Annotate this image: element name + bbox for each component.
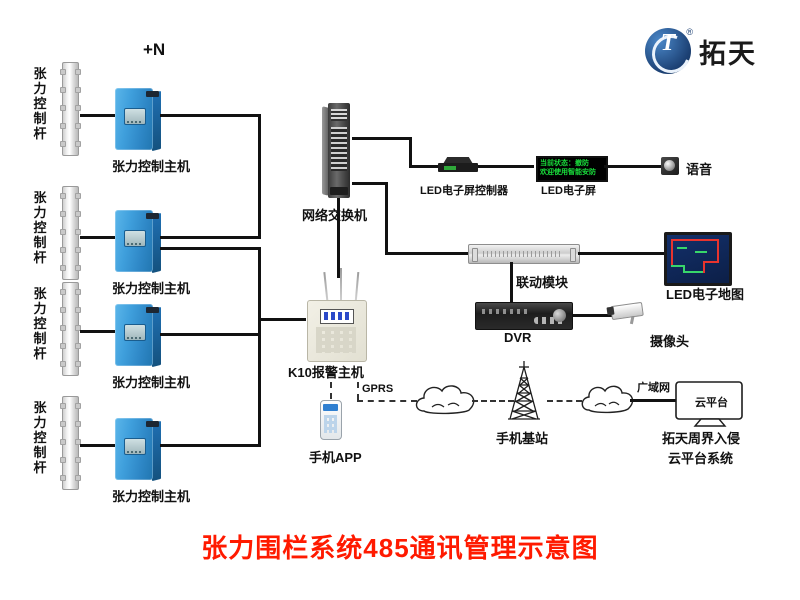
tension-host-3 xyxy=(115,304,161,366)
wire-dvr-camera xyxy=(572,314,612,317)
tension-host-label-2: 张力控制主机 xyxy=(112,278,190,297)
k10-alarm-host xyxy=(307,300,367,362)
wire-switch-linkage-c xyxy=(385,252,470,255)
bus-trunk-vertical xyxy=(258,318,261,362)
wire-switch-k10 xyxy=(337,198,340,278)
tension-pole-3 xyxy=(62,282,79,376)
wire-host4-bus xyxy=(160,444,261,447)
cloud-platform-screen-label: 云平台 xyxy=(695,394,728,410)
wire-pole3-host3 xyxy=(80,330,118,333)
gprs-label: GPRS xyxy=(362,383,393,395)
wire-host3-bus xyxy=(160,333,261,336)
tension-host-label-1: 张力控制主机 xyxy=(112,156,190,175)
camera-device xyxy=(607,302,647,326)
led-screen-device: 当前状态：撤防 欢迎使用智能安防 xyxy=(536,156,608,182)
wire-ledscreen-voice xyxy=(604,165,661,168)
wire-switch-linkage-a xyxy=(352,182,388,185)
diagram-canvas: T ® 拓天 +N 张力控制杆 张力控制主机 张力控制杆 张力控制主机 张力控制… xyxy=(0,0,800,600)
camera-label: 摄像头 xyxy=(650,331,689,350)
cloud-platform-caption-1: 拓天周界入侵 xyxy=(662,428,740,447)
wire-bus-to-k10 xyxy=(258,318,306,321)
tension-pole-2 xyxy=(62,186,79,280)
wire-host1-bus xyxy=(160,114,261,117)
registered-mark-icon: ® xyxy=(686,27,693,37)
k10-antenna-3 xyxy=(355,272,360,302)
tension-host-1 xyxy=(115,88,161,150)
tension-host-4 xyxy=(115,418,161,480)
bus-segment-3 xyxy=(258,360,261,447)
tension-pole-1 xyxy=(62,62,79,156)
wire-gprs-cloud xyxy=(357,400,417,402)
wire-pole2-host2 xyxy=(80,236,118,239)
network-switch xyxy=(322,103,356,198)
wire-pole1-host1 xyxy=(80,114,118,117)
voice-label: 语音 xyxy=(686,159,712,178)
tension-host-label-3: 张力控制主机 xyxy=(112,372,190,391)
pole-label-4: 张力控制杆 xyxy=(33,400,47,475)
k10-label: K10报警主机 xyxy=(288,362,364,381)
wire-switch-ledctl-c xyxy=(409,165,439,168)
wan-label: 广域网 xyxy=(637,379,670,395)
k10-antenna-2 xyxy=(340,268,342,304)
led-screen-label: LED电子屏 xyxy=(541,182,596,198)
base-station-label: 手机基站 xyxy=(496,428,548,447)
phone-app-label: 手机APP xyxy=(309,447,362,466)
tension-host-label-4: 张力控制主机 xyxy=(112,486,190,505)
mobile-phone-device xyxy=(320,400,342,440)
linkage-module-label: 联动模块 xyxy=(516,272,568,291)
plus-n-label: +N xyxy=(143,40,165,60)
led-map-device xyxy=(664,232,732,286)
cloud-platform-caption-2: 云平台系统 xyxy=(668,448,733,467)
dvr-label: DVR xyxy=(504,330,531,345)
wire-k10-gprs xyxy=(357,382,359,400)
wire-tower-cloud2 xyxy=(547,400,582,402)
led-screen-line2: 欢迎使用智能安防 xyxy=(540,168,604,177)
wire-ledctl-ledscreen xyxy=(478,165,534,168)
tension-pole-4 xyxy=(62,396,79,490)
wire-host2-bus xyxy=(160,236,261,239)
wire-pole4-host4 xyxy=(80,444,118,447)
wire-switch-ledctl-b xyxy=(409,137,412,168)
base-station-tower-icon xyxy=(498,361,550,423)
brand-name: 拓天 xyxy=(699,32,757,71)
pole-label-1: 张力控制杆 xyxy=(33,66,47,141)
led-controller-device xyxy=(438,157,478,173)
tension-host-2 xyxy=(115,210,161,272)
led-controller-label: LED电子屏控制器 xyxy=(420,182,508,198)
network-switch-label: 网络交换机 xyxy=(302,205,367,224)
voice-speaker-device xyxy=(661,157,679,175)
linkage-module-device xyxy=(468,244,580,264)
led-map-label: LED电子地图 xyxy=(666,284,744,303)
wire-host2-bus-b xyxy=(160,247,261,250)
wire-switch-linkage-b xyxy=(385,182,388,255)
bus-segment-1 xyxy=(258,114,261,236)
wire-linkage-dvr xyxy=(510,262,513,304)
led-screen-line1: 当前状态：撤防 xyxy=(540,159,604,168)
pole-label-2: 张力控制杆 xyxy=(33,190,47,265)
wire-switch-ledctl-a xyxy=(352,137,412,140)
wire-linkage-ledmap xyxy=(578,252,664,255)
tuotian-logo-icon: T ® xyxy=(645,28,691,74)
brand-logo: T ® 拓天 xyxy=(645,28,757,74)
led-map-screen xyxy=(667,235,729,283)
logo-letter: T xyxy=(645,30,691,57)
diagram-title: 张力围栏系统485通讯管理示意图 xyxy=(0,528,800,565)
pole-label-3: 张力控制杆 xyxy=(33,286,47,361)
dvr-device xyxy=(475,302,573,330)
